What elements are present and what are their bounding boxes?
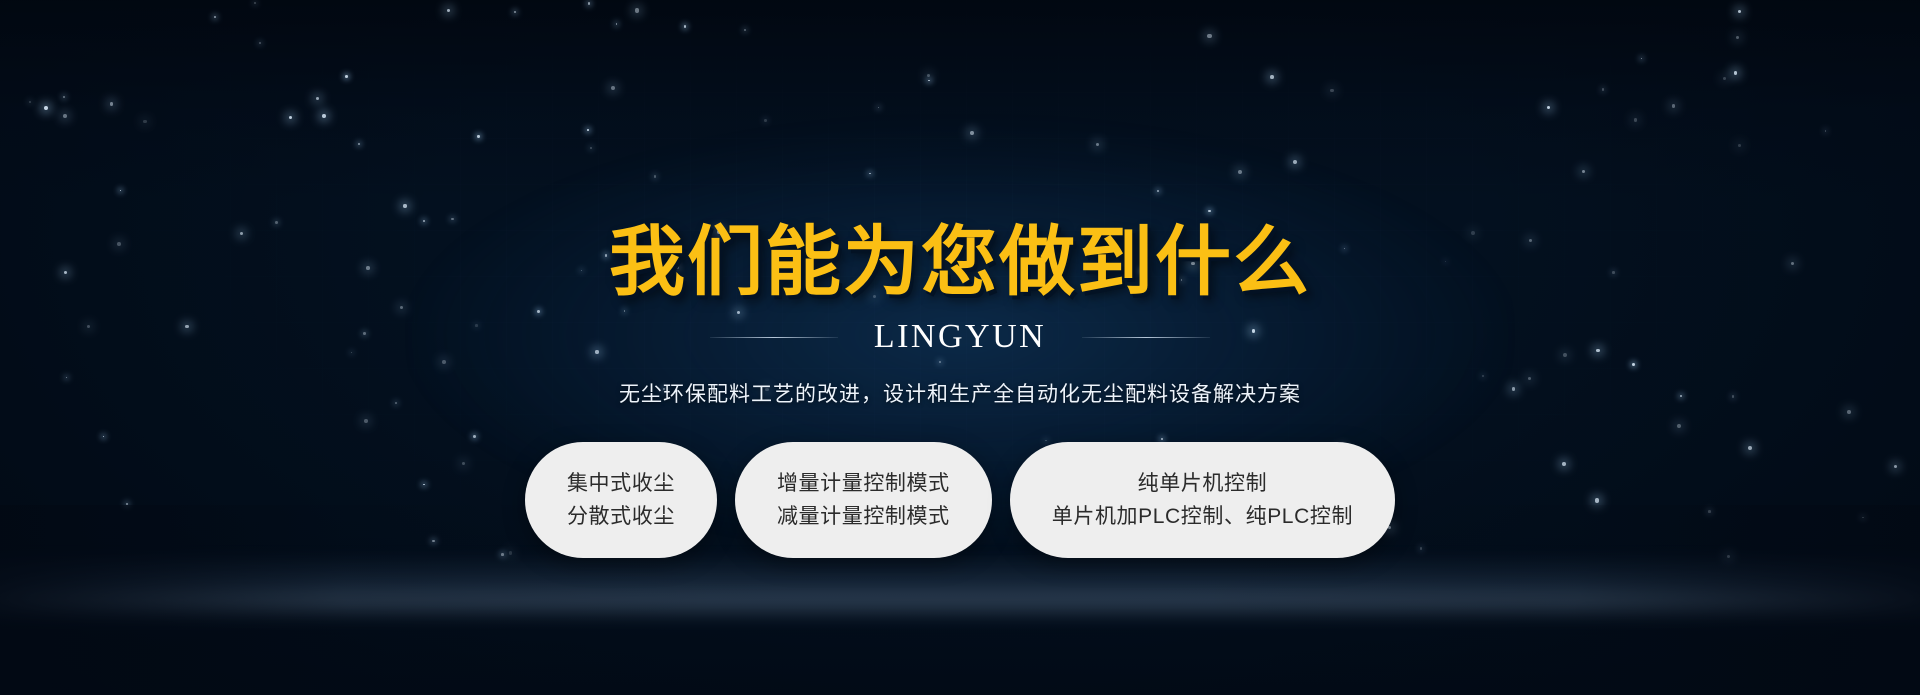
card-line: 纯单片机控制 bbox=[1138, 473, 1268, 494]
brand-latin-name: LINGYUN bbox=[874, 318, 1046, 356]
feature-card-controller-type[interactable]: 纯单片机控制 单片机加PLC控制、纯PLC控制 bbox=[1010, 442, 1395, 558]
feature-card-dust-collection[interactable]: 集中式收尘 分散式收尘 bbox=[525, 442, 717, 558]
banner-content: 我们能为您做到什么 LINGYUN 无尘环保配料工艺的改进，设计和生产全自动化无… bbox=[0, 0, 1920, 558]
feature-card-metering-control-mode[interactable]: 增量计量控制模式 减量计量控制模式 bbox=[735, 442, 992, 558]
divider-line-left bbox=[710, 337, 838, 338]
divider-line-right bbox=[1082, 337, 1210, 338]
card-line: 增量计量控制模式 bbox=[777, 473, 950, 494]
page-title: 我们能为您做到什么 bbox=[0, 0, 1920, 300]
banner-description: 无尘环保配料工艺的改进，设计和生产全自动化无尘配料设备解决方案 bbox=[0, 378, 1920, 408]
feature-card-list: 集中式收尘 分散式收尘 增量计量控制模式 减量计量控制模式 纯单片机控制 单片机… bbox=[0, 442, 1920, 558]
card-line: 分散式收尘 bbox=[567, 506, 675, 527]
card-line: 减量计量控制模式 bbox=[777, 506, 950, 527]
card-line: 集中式收尘 bbox=[567, 473, 675, 494]
card-line: 单片机加PLC控制、纯PLC控制 bbox=[1052, 506, 1353, 527]
brand-row: LINGYUN bbox=[0, 318, 1920, 356]
hero-banner: 我们能为您做到什么 LINGYUN 无尘环保配料工艺的改进，设计和生产全自动化无… bbox=[0, 0, 1920, 695]
